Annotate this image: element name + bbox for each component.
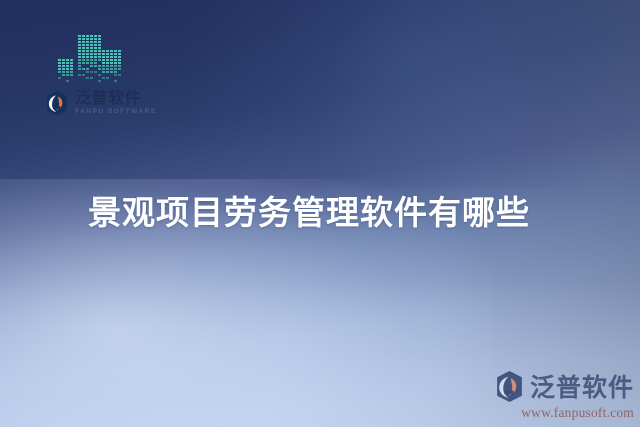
skyline-block [58, 77, 61, 79]
skyline-block [82, 56, 85, 58]
skyline-block [118, 68, 121, 70]
skyline-block [98, 44, 101, 46]
skyline-block [90, 44, 93, 46]
skyline-left-tower [58, 59, 73, 82]
skyline-block [106, 68, 109, 70]
skyline-block [110, 59, 113, 61]
skyline-block [102, 68, 105, 70]
skyline-block [98, 77, 101, 79]
skyline-block [94, 38, 97, 40]
skyline-block [82, 53, 85, 55]
skyline-block [106, 80, 109, 82]
skyline-block [106, 71, 109, 73]
skyline-block [118, 77, 121, 79]
skyline-block [78, 68, 81, 70]
skyline-block [70, 65, 73, 67]
skyline-block [110, 74, 113, 76]
skyline-block [94, 59, 97, 61]
skyline-block [114, 65, 117, 67]
skyline-block [86, 59, 89, 61]
skyline-block [94, 71, 97, 73]
skyline-block [82, 38, 85, 40]
skyline-block [98, 80, 101, 82]
fanpu-circle-logo-icon [493, 370, 526, 403]
skyline-block [78, 47, 81, 49]
skyline-block [62, 59, 65, 61]
skyline-block [118, 59, 121, 61]
skyline-block [98, 56, 101, 58]
skyline-block [86, 62, 89, 64]
skyline-block [110, 77, 113, 79]
skyline-block [98, 38, 101, 40]
skyline-block [70, 62, 73, 64]
skyline-block [70, 74, 73, 76]
skyline-block [94, 74, 97, 76]
skyline-block [78, 53, 81, 55]
skyline-block [58, 62, 61, 64]
skyline-block [110, 71, 113, 73]
skyline-block [98, 47, 101, 49]
skyline-block [94, 80, 97, 82]
skyline-block [90, 35, 93, 37]
skyline-block [114, 62, 117, 64]
skyline-block [62, 65, 65, 67]
skyline-block [70, 68, 73, 70]
skyline-block [106, 59, 109, 61]
skyline-block [102, 77, 105, 79]
skyline-block [90, 80, 93, 82]
skyline-block [118, 71, 121, 73]
skyline-block [82, 50, 85, 52]
skyline-block [82, 44, 85, 46]
skyline-block [78, 44, 81, 46]
skyline-block [86, 53, 89, 55]
skyline-block [98, 68, 101, 70]
skyline-block [98, 65, 101, 67]
skyline-block [58, 71, 61, 73]
brand-lockup: 泛普软件 FANPU SOFTWARE [44, 90, 157, 116]
skyline-block [106, 56, 109, 58]
skyline-block [66, 71, 69, 73]
skyline-block [90, 56, 93, 58]
watermark-row: 泛普软件 [488, 368, 634, 404]
skyline-block [94, 47, 97, 49]
skyline-block [110, 56, 113, 58]
skyline-block [86, 47, 89, 49]
watermark-url: www.fanpusoft.com [488, 405, 634, 421]
skyline-block [98, 71, 101, 73]
skyline-block [86, 71, 89, 73]
skyline-block [114, 80, 117, 82]
skyline-block [82, 68, 85, 70]
skyline-block [86, 41, 89, 43]
skyline-block [94, 50, 97, 52]
promo-banner: 泛普软件 FANPU SOFTWARE 景观项目劳务管理软件有哪些 泛普软件 w… [0, 0, 640, 427]
skyline-block [94, 62, 97, 64]
skyline-block [90, 65, 93, 67]
skyline-block [78, 77, 81, 79]
skyline-block [110, 50, 113, 52]
skyline-center-tower [78, 35, 101, 82]
skyline-block [94, 77, 97, 79]
skyline-block [98, 35, 101, 37]
skyline-block [90, 47, 93, 49]
skyline-block [98, 59, 101, 61]
skyline-block [102, 56, 105, 58]
skyline-block [66, 68, 69, 70]
skyline-block [86, 74, 89, 76]
skyline-block [110, 62, 113, 64]
skyline-block [78, 50, 81, 52]
skyline-block [86, 77, 89, 79]
skyline-block [106, 65, 109, 67]
skyline-block [94, 56, 97, 58]
skyline-block [110, 80, 113, 82]
skyline-block [102, 74, 105, 76]
skyline-block [94, 68, 97, 70]
skyline-block [78, 62, 81, 64]
skyline-block [78, 59, 81, 61]
skyline-block [82, 77, 85, 79]
skyline-block [58, 80, 61, 82]
skyline-block [90, 68, 93, 70]
skyline-block [82, 62, 85, 64]
skyline-block [82, 74, 85, 76]
skyline-block [94, 44, 97, 46]
skyline-block [114, 56, 117, 58]
skyline-block [98, 74, 101, 76]
skyline-block [82, 80, 85, 82]
skyline-block [58, 65, 61, 67]
skyline-block [94, 53, 97, 55]
skyline-block [106, 74, 109, 76]
skyline-block [78, 65, 81, 67]
skyline-block [82, 71, 85, 73]
skyline-block [70, 71, 73, 73]
skyline-block [98, 53, 101, 55]
skyline-block [78, 56, 81, 58]
skyline-block [78, 41, 81, 43]
skyline-block [114, 68, 117, 70]
skyline-block [102, 62, 105, 64]
skyline-block [90, 74, 93, 76]
skyline-block [86, 44, 89, 46]
page-title: 景观项目劳务管理软件有哪些 [88, 186, 530, 234]
skyline-block [62, 80, 65, 82]
skyline-block [98, 41, 101, 43]
skyline-block [118, 56, 121, 58]
skyline-block [66, 62, 69, 64]
skyline-block [90, 41, 93, 43]
brand-name-cn: 泛普软件 [75, 90, 157, 106]
skyline-block [94, 35, 97, 37]
skyline-block [66, 74, 69, 76]
skyline-block [106, 62, 109, 64]
skyline-block [78, 35, 81, 37]
skyline-block [82, 35, 85, 37]
skyline-block [114, 50, 117, 52]
skyline-block [78, 71, 81, 73]
skyline-block [58, 59, 61, 61]
skyline-block [86, 68, 89, 70]
skyline-block [90, 77, 93, 79]
skyline-block [82, 47, 85, 49]
skyline-block [118, 74, 121, 76]
skyline-block [78, 38, 81, 40]
skyline-block [102, 80, 105, 82]
skyline-block [106, 77, 109, 79]
skyline-block [90, 62, 93, 64]
skyline-block [102, 71, 105, 73]
skyline-block [86, 80, 89, 82]
skyline-block [114, 71, 117, 73]
skyline-block [90, 53, 93, 55]
brand-name-en: FANPU SOFTWARE [75, 109, 157, 116]
skyline-block [98, 50, 101, 52]
watermark-lockup: 泛普软件 www.fanpusoft.com [488, 368, 634, 421]
skyline-block [66, 80, 69, 82]
skyline-block [90, 71, 93, 73]
skyline-block [102, 59, 105, 61]
skyline-block [62, 77, 65, 79]
skyline-block [86, 38, 89, 40]
skyline-block [86, 50, 89, 52]
skyline-block [106, 53, 109, 55]
skyline-block [110, 65, 113, 67]
skyline-block [118, 65, 121, 67]
skyline-block [66, 77, 69, 79]
watermark-name-cn: 泛普软件 [530, 368, 634, 404]
skyline-block [70, 77, 73, 79]
skyline-block [62, 68, 65, 70]
skyline-block [82, 65, 85, 67]
skyline-block [102, 65, 105, 67]
skyline-block [62, 71, 65, 73]
skyline-block [70, 59, 73, 61]
skyline-block [90, 59, 93, 61]
brand-text-block: 泛普软件 FANPU SOFTWARE [75, 90, 157, 116]
pixel-city-skyline-icon [58, 26, 126, 82]
skyline-block [58, 68, 61, 70]
skyline-block [86, 65, 89, 67]
skyline-block [114, 53, 117, 55]
skyline-block [114, 74, 117, 76]
skyline-block [106, 50, 109, 52]
skyline-block [66, 65, 69, 67]
skyline-block [110, 53, 113, 55]
skyline-block [90, 38, 93, 40]
skyline-block [78, 80, 81, 82]
skyline-block [86, 35, 89, 37]
skyline-block [102, 53, 105, 55]
skyline-block [114, 77, 117, 79]
skyline-block [62, 74, 65, 76]
skyline-block [110, 68, 113, 70]
skyline-block [62, 62, 65, 64]
skyline-block [102, 50, 105, 52]
skyline-block [86, 56, 89, 58]
skyline-block [94, 41, 97, 43]
skyline-block [78, 74, 81, 76]
skyline-block [94, 65, 97, 67]
skyline-block [58, 74, 61, 76]
skyline-block [118, 50, 121, 52]
skyline-block [82, 59, 85, 61]
skyline-block [98, 62, 101, 64]
skyline-block [114, 59, 117, 61]
skyline-block [90, 50, 93, 52]
skyline-block [66, 59, 69, 61]
skyline-block [118, 80, 121, 82]
skyline-block [70, 80, 73, 82]
fanpu-circle-logo-icon [44, 90, 70, 116]
skyline-right-tower [102, 50, 121, 82]
skyline-block [118, 53, 121, 55]
skyline-block [118, 62, 121, 64]
skyline-block [82, 41, 85, 43]
